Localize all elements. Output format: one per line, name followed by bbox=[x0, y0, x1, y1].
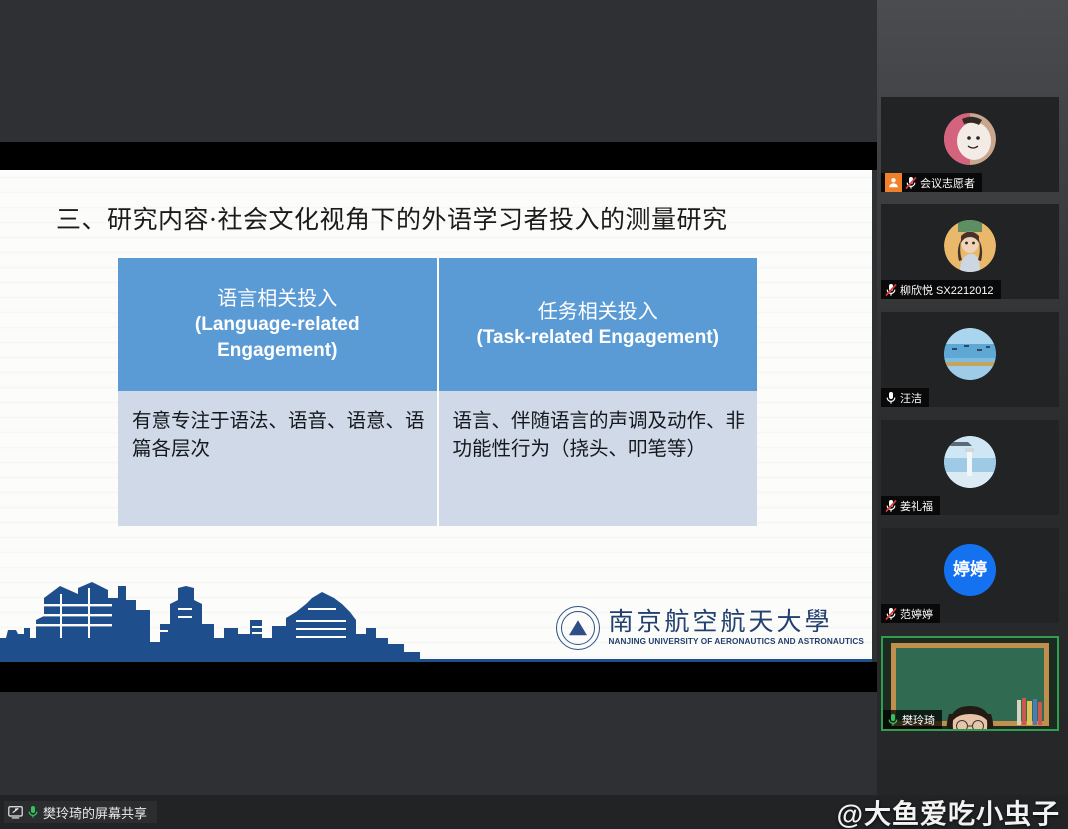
header-cn-label: 任务相关投入 bbox=[449, 298, 748, 325]
avatar-initials: 婷婷 bbox=[944, 544, 996, 596]
avatar bbox=[944, 113, 996, 165]
microphone-on-icon bbox=[885, 391, 897, 405]
participant-rail[interactable]: 会议志愿者 bbox=[877, 0, 1068, 795]
letterbox-bottom bbox=[0, 662, 877, 692]
header-en-line1: (Language-related bbox=[128, 312, 427, 338]
participant-name-chip: 范婷婷 bbox=[881, 604, 940, 623]
university-name-en: NANJING UNIVERSITY OF AERONAUTICS AND AS… bbox=[609, 638, 865, 647]
zoom-meeting-window: 三、研究内容·社会文化视角下的外语学习者投入的测量研究 语言相关投入 (Lang… bbox=[0, 0, 1068, 829]
participant-name-chip: 樊玲琦 bbox=[883, 710, 942, 729]
microphone-muted-icon bbox=[885, 283, 897, 297]
campus-skyline-graphic bbox=[0, 542, 450, 662]
university-logo: 南京航空航天大學 NANJING UNIVERSITY OF AERONAUTI… bbox=[556, 606, 865, 650]
microphone-on-icon bbox=[27, 805, 39, 819]
participant-tile-2[interactable]: 汪洁 bbox=[881, 312, 1059, 407]
table-row: 有意专注于语法、语音、语意、语篇各层次 语言、伴随语言的声调及动作、非功能性行为… bbox=[118, 391, 757, 526]
university-seal-icon bbox=[556, 606, 600, 650]
header-en-line2: Engagement) bbox=[128, 338, 427, 364]
screen-share-status[interactable]: 樊玲琦的屏幕共享 bbox=[4, 801, 157, 823]
letterbox-top bbox=[0, 142, 877, 170]
bottom-status-bar: 樊玲琦的屏幕共享 @大鱼爱吃小虫子 bbox=[0, 795, 1068, 829]
participant-name: 会议志愿者 bbox=[920, 175, 975, 191]
participant-name-chip: 汪洁 bbox=[881, 388, 929, 407]
shared-screen-stage[interactable]: 三、研究内容·社会文化视角下的外语学习者投入的测量研究 语言相关投入 (Lang… bbox=[0, 0, 877, 795]
screen-share-icon bbox=[8, 806, 23, 819]
participant-tile-5[interactable]: 樊玲琦 bbox=[881, 636, 1059, 731]
participant-tile-3[interactable]: 姜礼福 bbox=[881, 420, 1059, 515]
microphone-muted-icon bbox=[905, 176, 917, 190]
header-cn-label: 语言相关投入 bbox=[128, 285, 427, 312]
engagement-table: 语言相关投入 (Language-related Engagement) 任务相… bbox=[118, 258, 757, 526]
host-person-icon bbox=[885, 173, 902, 192]
table-header-row: 语言相关投入 (Language-related Engagement) 任务相… bbox=[118, 258, 757, 391]
screen-share-label: 樊玲琦的屏幕共享 bbox=[43, 803, 147, 822]
participant-name-chip: 柳欣悦 SX2212012 bbox=[881, 280, 1001, 299]
microphone-on-icon bbox=[887, 713, 899, 727]
participant-name-chip: 会议志愿者 bbox=[881, 173, 982, 192]
table-cell-language-description: 有意专注于语法、语音、语意、语篇各层次 bbox=[118, 391, 438, 526]
participant-name-chip: 姜礼福 bbox=[881, 496, 940, 515]
participant-tile-0[interactable]: 会议志愿者 bbox=[881, 97, 1059, 192]
participant-name: 樊玲琦 bbox=[902, 712, 935, 728]
participant-name: 范婷婷 bbox=[900, 606, 933, 622]
table-cell-task-description: 语言、伴随语言的声调及动作、非功能性行为（挠头、叩笔等） bbox=[438, 391, 758, 526]
header-en-line1: (Task-related Engagement) bbox=[449, 325, 748, 351]
participant-name: 姜礼福 bbox=[900, 498, 933, 514]
microphone-muted-icon bbox=[885, 607, 897, 621]
avatar bbox=[944, 328, 996, 380]
slide-footer-rule bbox=[0, 659, 872, 662]
avatar-initials-label: 婷婷 bbox=[953, 561, 987, 578]
participant-name: 柳欣悦 SX2212012 bbox=[900, 282, 994, 298]
participant-tile-1[interactable]: 柳欣悦 SX2212012 bbox=[881, 204, 1059, 299]
participant-name: 汪洁 bbox=[900, 390, 922, 406]
watermark-text: @大鱼爱吃小虫子 bbox=[837, 793, 1060, 829]
university-name-cn: 南京航空航天大學 bbox=[609, 609, 865, 635]
participant-tile-4[interactable]: 婷婷 范婷婷 bbox=[881, 528, 1059, 623]
presentation-slide: 三、研究内容·社会文化视角下的外语学习者投入的测量研究 语言相关投入 (Lang… bbox=[0, 170, 872, 662]
table-header-cell-language: 语言相关投入 (Language-related Engagement) bbox=[118, 258, 438, 391]
avatar bbox=[944, 436, 996, 488]
avatar bbox=[944, 220, 996, 272]
microphone-muted-icon bbox=[885, 499, 897, 513]
table-header-cell-task: 任务相关投入 (Task-related Engagement) bbox=[438, 258, 758, 391]
slide-title: 三、研究内容·社会文化视角下的外语学习者投入的测量研究 bbox=[56, 200, 727, 236]
